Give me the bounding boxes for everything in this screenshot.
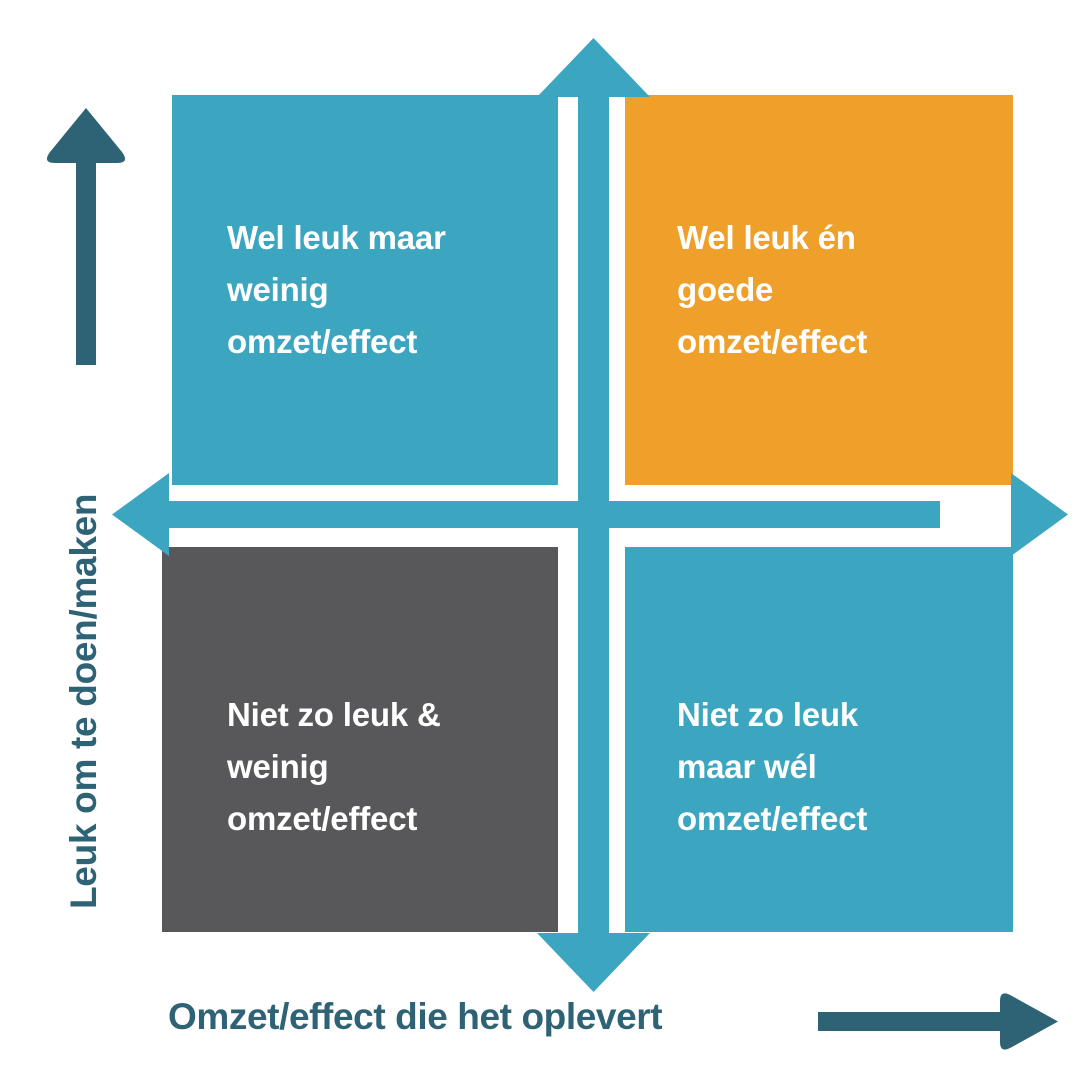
quadrant-top-right-label: Wel leuk én goede omzet/effect (677, 212, 993, 368)
quadrant-bottom-right-label: Niet zo leuk maar wél omzet/effect (677, 689, 993, 845)
x-axis-label: Omzet/effect die het oplevert (168, 998, 662, 1035)
cross-up-arrow-icon (537, 38, 650, 97)
cross-horizontal-shaft (140, 501, 940, 528)
x-axis-arrow-icon (818, 993, 1058, 1049)
cross-down-arrow-icon (537, 933, 650, 992)
x-axis-arrow-head (1000, 993, 1058, 1049)
cross-vertical-shaft (578, 95, 609, 935)
quadrant-top-right[interactable]: Wel leuk én goede omzet/effect (625, 95, 1013, 485)
cross-right-arrow-icon (1011, 473, 1068, 556)
quadrant-bottom-left-label: Niet zo leuk & weinig omzet/effect (227, 689, 538, 845)
quadrant-bottom-right[interactable]: Niet zo leuk maar wél omzet/effect (625, 547, 1013, 932)
diagram-canvas: Wel leuk maar weinig omzet/effect Wel le… (0, 0, 1080, 1080)
quadrant-bottom-left[interactable]: Niet zo leuk & weinig omzet/effect (162, 547, 558, 932)
quadrant-top-left-label: Wel leuk maar weinig omzet/effect (227, 212, 538, 368)
x-axis-arrow-shaft (818, 1012, 1012, 1031)
y-axis-label-group: Leuk om te doen/maken (0, 0, 150, 1080)
y-axis-label: Leuk om te doen/maken (63, 379, 105, 909)
quadrant-top-left[interactable]: Wel leuk maar weinig omzet/effect (172, 95, 558, 485)
